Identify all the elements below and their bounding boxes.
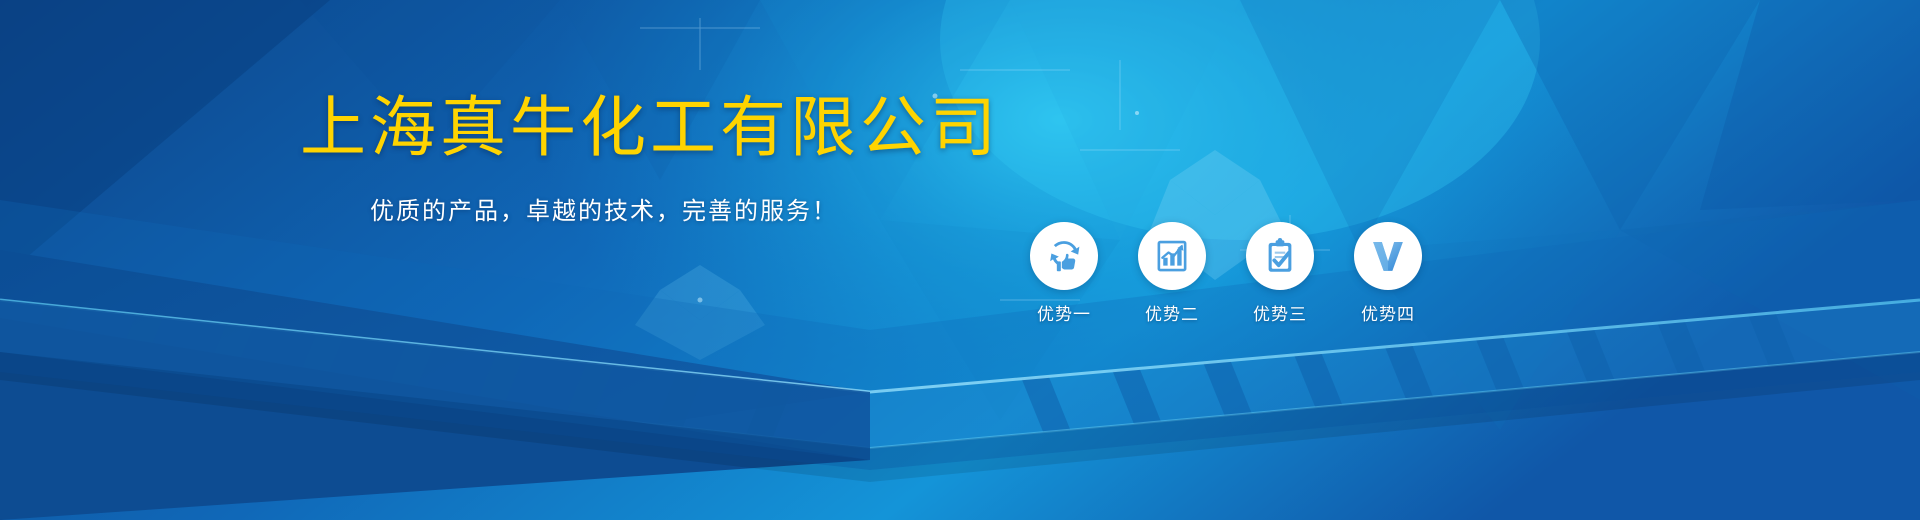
advantage-item-2[interactable]: 优势二: [1138, 222, 1206, 326]
company-slogan: 优质的产品，卓越的技术，完善的服务！: [370, 196, 838, 228]
refresh-thumbsup-icon: [1043, 235, 1085, 277]
advantage-icon-circle-2: [1138, 222, 1206, 290]
advantage-label-2: 优势二: [1145, 304, 1199, 326]
advantage-label-1: 优势一: [1037, 304, 1091, 326]
bar-chart-growth-icon: [1151, 235, 1193, 277]
company-hero-banner: 上海真牛化工有限公司 优质的产品，卓越的技术，完善的服务！ 优势一: [0, 0, 1920, 520]
advantage-icon-circle-3: [1246, 222, 1314, 290]
clipboard-check-icon: [1259, 235, 1301, 277]
advantage-list: 优势一 优势二: [1030, 222, 1422, 326]
company-title: 上海真牛化工有限公司: [300, 88, 1000, 166]
advantage-icon-circle-1: [1030, 222, 1098, 290]
advantage-item-4[interactable]: 优势四: [1354, 222, 1422, 326]
advantage-item-1[interactable]: 优势一: [1030, 222, 1098, 326]
advantage-label-4: 优势四: [1361, 304, 1415, 326]
advantage-icon-circle-4: [1354, 222, 1422, 290]
advantage-item-3[interactable]: 优势三: [1246, 222, 1314, 326]
banner-content: 上海真牛化工有限公司 优质的产品，卓越的技术，完善的服务！ 优势一: [0, 0, 1920, 520]
v-badge-icon: [1367, 235, 1409, 277]
advantage-label-3: 优势三: [1253, 304, 1307, 326]
